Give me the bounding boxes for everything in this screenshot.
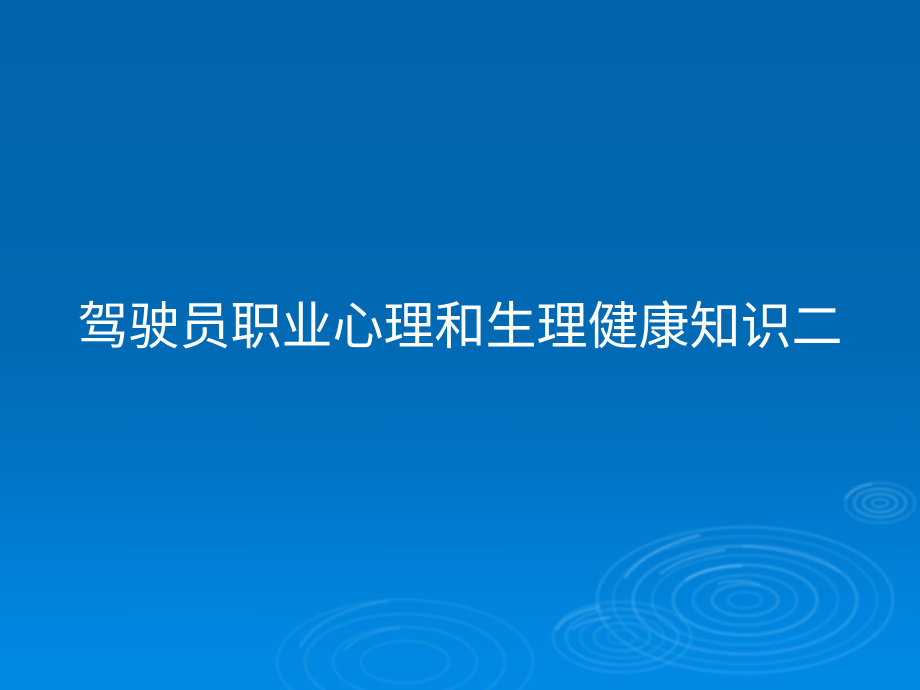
title-placeholder: 驾驶员职业心理和生理健康知识二 bbox=[0, 300, 920, 355]
slide-title: 驾驶员职业心理和生理健康知识二 bbox=[0, 300, 920, 355]
presentation-slide: 驾驶员职业心理和生理健康知识二 bbox=[0, 0, 920, 690]
